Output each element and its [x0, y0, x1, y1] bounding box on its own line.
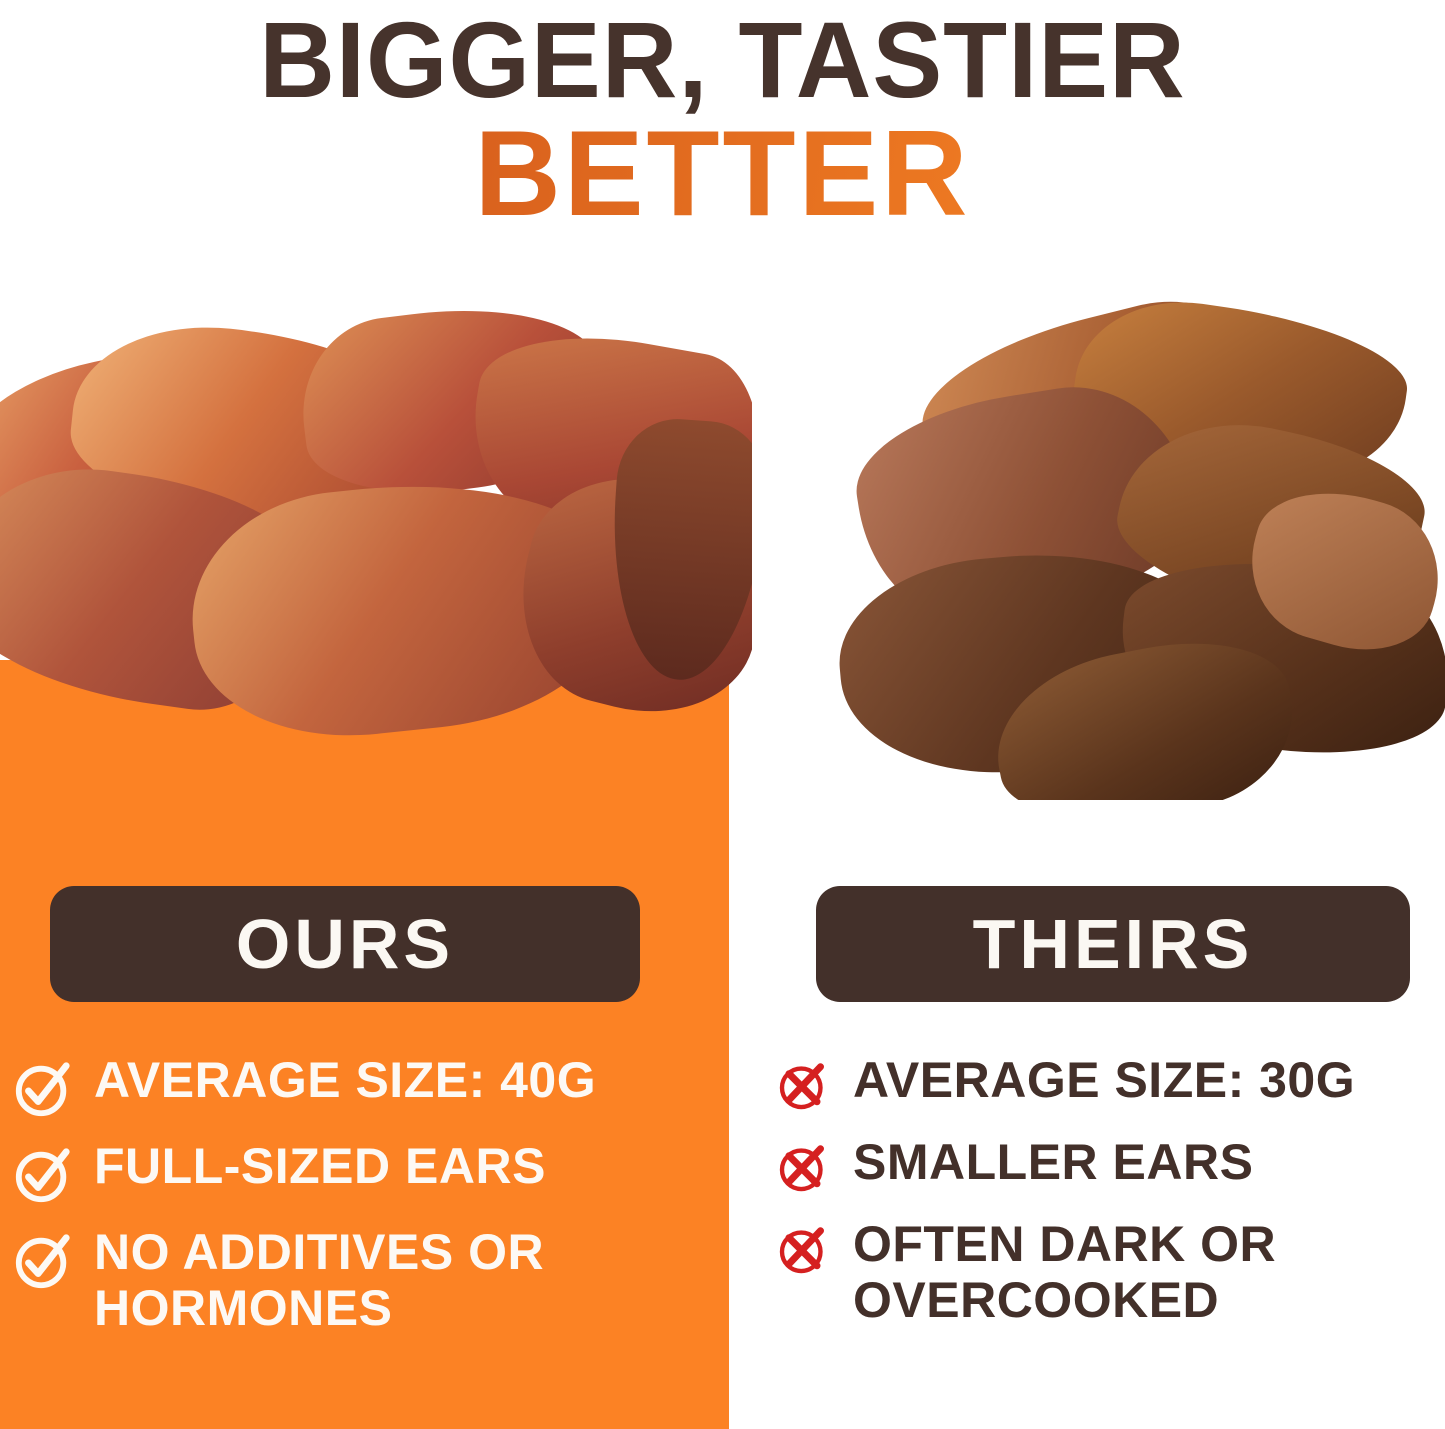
theirs-badge: THEIRS: [816, 886, 1410, 1002]
ours-badge: OURS: [50, 886, 640, 1002]
theirs-item-text: OFTEN DARK OR OVERCOOKED: [853, 1216, 1435, 1328]
ours-item-text: AVERAGE SIZE: 40G: [94, 1052, 596, 1108]
theirs-item-text: AVERAGE SIZE: 30G: [853, 1052, 1355, 1108]
theirs-feature-list: AVERAGE SIZE: 30G SMALLER EARS OFTEN: [775, 1052, 1435, 1348]
ours-item-text: FULL-SIZED EARS: [94, 1138, 546, 1194]
list-item: NO ADDITIVES OR HORMONES: [12, 1224, 712, 1336]
headline-line-1: BIGGER, TASTIER: [22, 0, 1424, 116]
x-circle-icon: [775, 1058, 831, 1114]
check-circle-icon: [12, 1230, 74, 1292]
theirs-product-photo: [820, 300, 1445, 800]
list-item: SMALLER EARS: [775, 1134, 1435, 1196]
list-item: FULL-SIZED EARS: [12, 1138, 712, 1206]
theirs-item-text: SMALLER EARS: [853, 1134, 1253, 1190]
page-title: BIGGER, TASTIER BETTER: [0, 0, 1445, 236]
ours-feature-list: AVERAGE SIZE: 40G FULL-SIZED EARS NO ADD…: [12, 1052, 712, 1354]
list-item: OFTEN DARK OR OVERCOOKED: [775, 1216, 1435, 1328]
ours-product-photo: [0, 300, 752, 740]
check-circle-icon: [12, 1058, 74, 1120]
ours-badge-label: OURS: [236, 904, 454, 984]
check-circle-icon: [12, 1144, 74, 1206]
list-item: AVERAGE SIZE: 30G: [775, 1052, 1435, 1114]
headline-line-2: BETTER: [14, 110, 1430, 236]
x-circle-icon: [775, 1222, 831, 1278]
theirs-badge-label: THEIRS: [973, 904, 1254, 984]
ours-item-text: NO ADDITIVES OR HORMONES: [94, 1224, 712, 1336]
x-circle-icon: [775, 1140, 831, 1196]
product-comparison-infographic: BIGGER, TASTIER BETTER OURS THEIRS AVER: [0, 0, 1445, 1429]
list-item: AVERAGE SIZE: 40G: [12, 1052, 712, 1120]
